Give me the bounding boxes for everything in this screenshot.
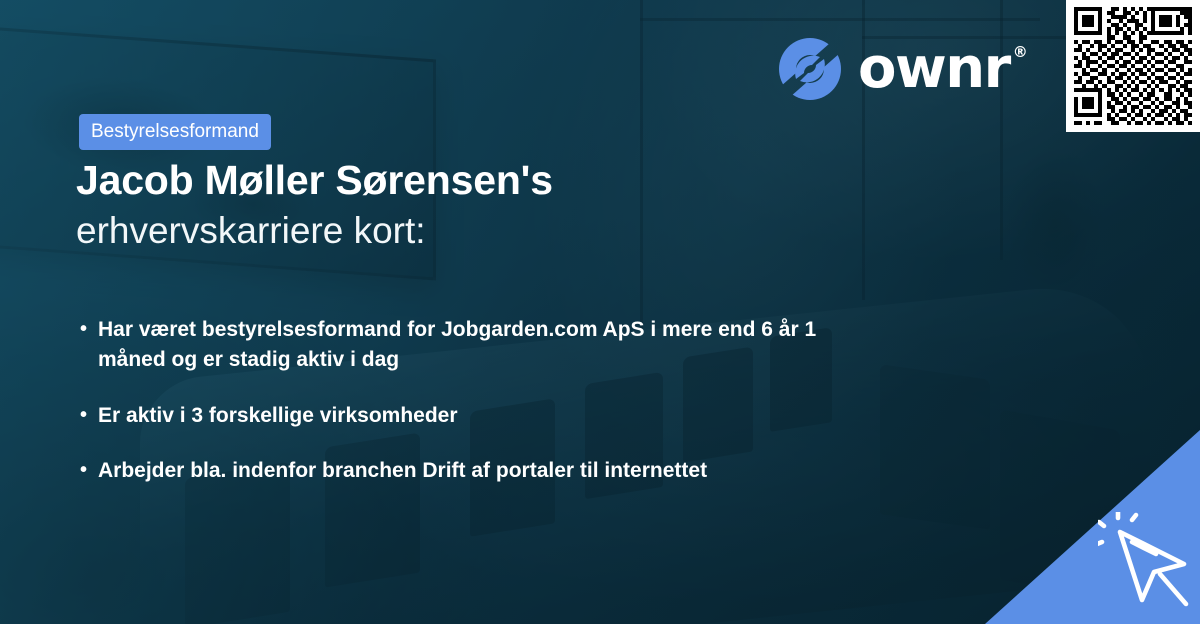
qr-code[interactable] (1066, 0, 1200, 132)
list-item: • Arbejder bla. indenfor branchen Drift … (80, 456, 910, 486)
ownr-wordmark-text: ownr (858, 41, 1010, 97)
bullet-icon: • (80, 456, 98, 485)
list-item: • Er aktiv i 3 forskellige virksomheder (80, 401, 910, 431)
registered-trademark-icon: ® (1013, 45, 1027, 60)
bullet-icon: • (80, 315, 98, 344)
role-badge: Bestyrelsesformand (79, 114, 271, 150)
page-title: Jacob Møller Sørensen's (76, 158, 553, 204)
list-item-text: Er aktiv i 3 forskellige virksomheder (98, 401, 868, 431)
ownr-wordmark: ownr ® (858, 41, 1026, 97)
bullet-icon: • (80, 401, 98, 430)
click-cursor-icon (1098, 512, 1200, 616)
list-item-text: Har været bestyrelsesformand for Jobgard… (98, 315, 858, 376)
page-subtitle: erhvervskarriere kort: (76, 210, 426, 253)
qr-code-grid (1074, 7, 1192, 125)
ownr-logo[interactable]: ownr ® (778, 36, 1026, 102)
career-summary-list: • Har været bestyrelsesformand for Jobga… (80, 315, 910, 512)
ownr-circle-swirl-icon (778, 37, 842, 101)
list-item: • Har været bestyrelsesformand for Jobga… (80, 315, 910, 376)
list-item-text: Arbejder bla. indenfor branchen Drift af… (98, 456, 868, 486)
ownr-profile-card: ownr ® Bestyrelsesformand Jacob Møller S… (0, 0, 1200, 624)
